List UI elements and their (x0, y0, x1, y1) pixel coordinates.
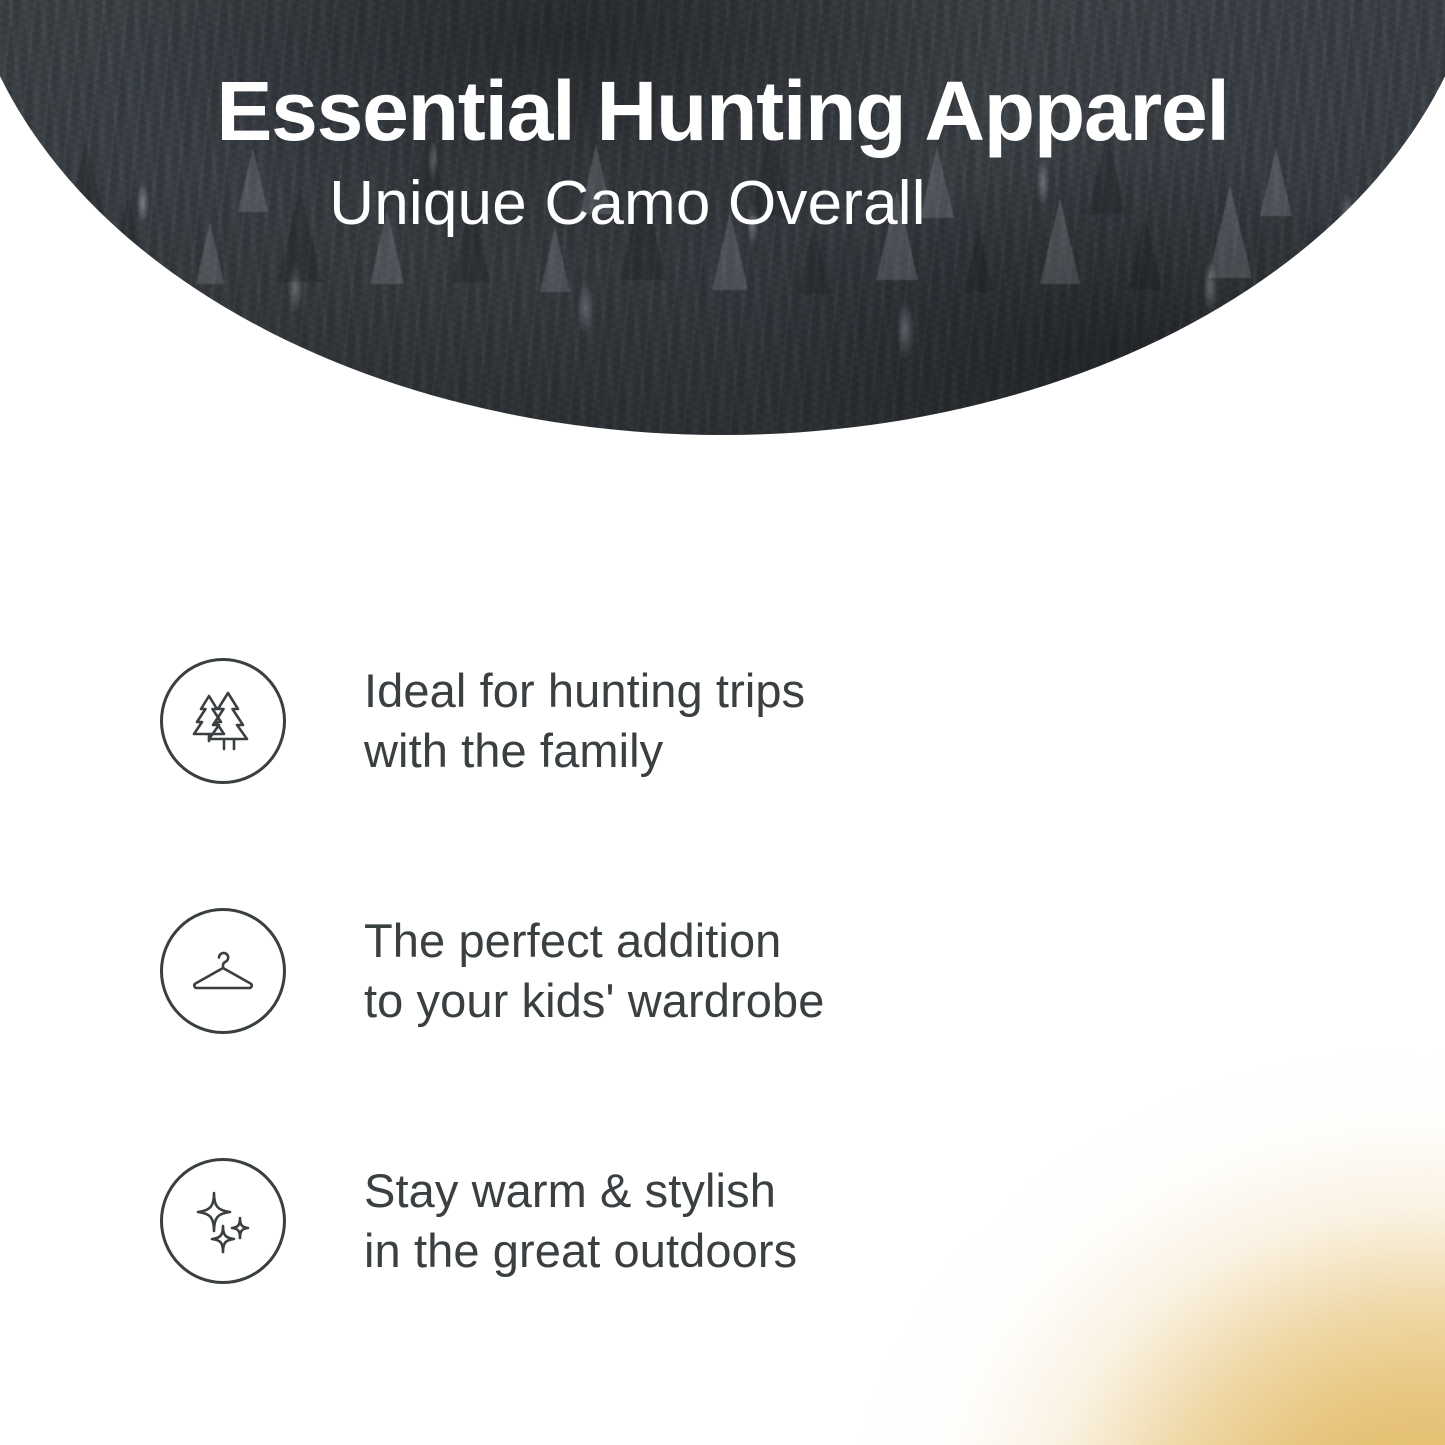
page-subtitle: Unique Camo Overall (0, 169, 1445, 238)
product-feature-card: Essential Hunting Apparel Unique Camo Ov… (0, 0, 1445, 1445)
feature-text: The perfect addition to your kids' wardr… (364, 911, 825, 1030)
pine-trees-icon (183, 681, 263, 761)
page-title: Essential Hunting Apparel (0, 68, 1445, 155)
sparkles-icon (183, 1181, 263, 1261)
feature-item-wardrobe: The perfect addition to your kids' wardr… (160, 846, 1160, 1096)
feature-item-hunting-trips: Ideal for hunting trips with the family (160, 596, 1160, 846)
feature-item-warm-stylish: Stay warm & stylish in the great outdoor… (160, 1096, 1160, 1346)
feature-list: Ideal for hunting trips with the family … (160, 596, 1160, 1346)
feature-text: Stay warm & stylish in the great outdoor… (364, 1161, 797, 1280)
sparkles-icon-badge (160, 1158, 286, 1284)
clothes-hanger-icon (183, 931, 263, 1011)
feature-text: Ideal for hunting trips with the family (364, 661, 805, 780)
hero-text-block: Essential Hunting Apparel Unique Camo Ov… (0, 68, 1445, 239)
pine-trees-icon-badge (160, 658, 286, 784)
clothes-hanger-icon-badge (160, 908, 286, 1034)
